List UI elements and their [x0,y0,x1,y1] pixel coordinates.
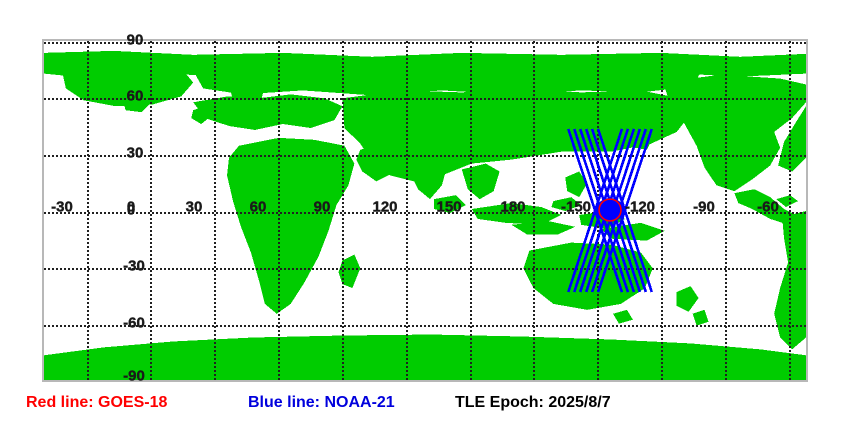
y-tick-label: 30 [127,145,144,162]
legend-tle-epoch: TLE Epoch: 2025/8/7 [455,392,611,414]
x-tick-label: -30 [51,199,73,216]
satellite-ground-track-map: -30 0 30 60 90 120 150 180 -150 -120 -90… [0,0,850,425]
noaa21-current-position-marker [596,198,624,222]
x-tick-label: -60 [757,199,779,216]
x-tick-label: -90 [693,199,715,216]
y-tick-label: -30 [123,258,145,275]
y-tick-label: 60 [127,88,144,105]
y-tick-label: -60 [123,315,145,332]
x-tick-label: 120 [372,199,397,216]
satellite-track-layer [44,41,806,380]
legend-blue-line-noaa21: Blue line: NOAA-21 [248,392,395,414]
x-tick-label: 90 [314,199,331,216]
legend-red-line-goes18: Red line: GOES-18 [26,392,167,414]
legend-bar: Red line: GOES-18 Blue line: NOAA-21 TLE… [0,392,850,425]
x-tick-label: -150 [561,199,591,216]
y-tick-label: 90 [127,32,144,49]
y-tick-label: 0 [127,202,135,219]
x-tick-label: 150 [436,199,461,216]
x-tick-label: 180 [500,199,525,216]
y-tick-label: -90 [123,368,145,385]
x-tick-label: 30 [186,199,203,216]
x-tick-label: 60 [250,199,267,216]
gridline-horizontal [44,382,806,383]
x-tick-label: -120 [625,199,655,216]
